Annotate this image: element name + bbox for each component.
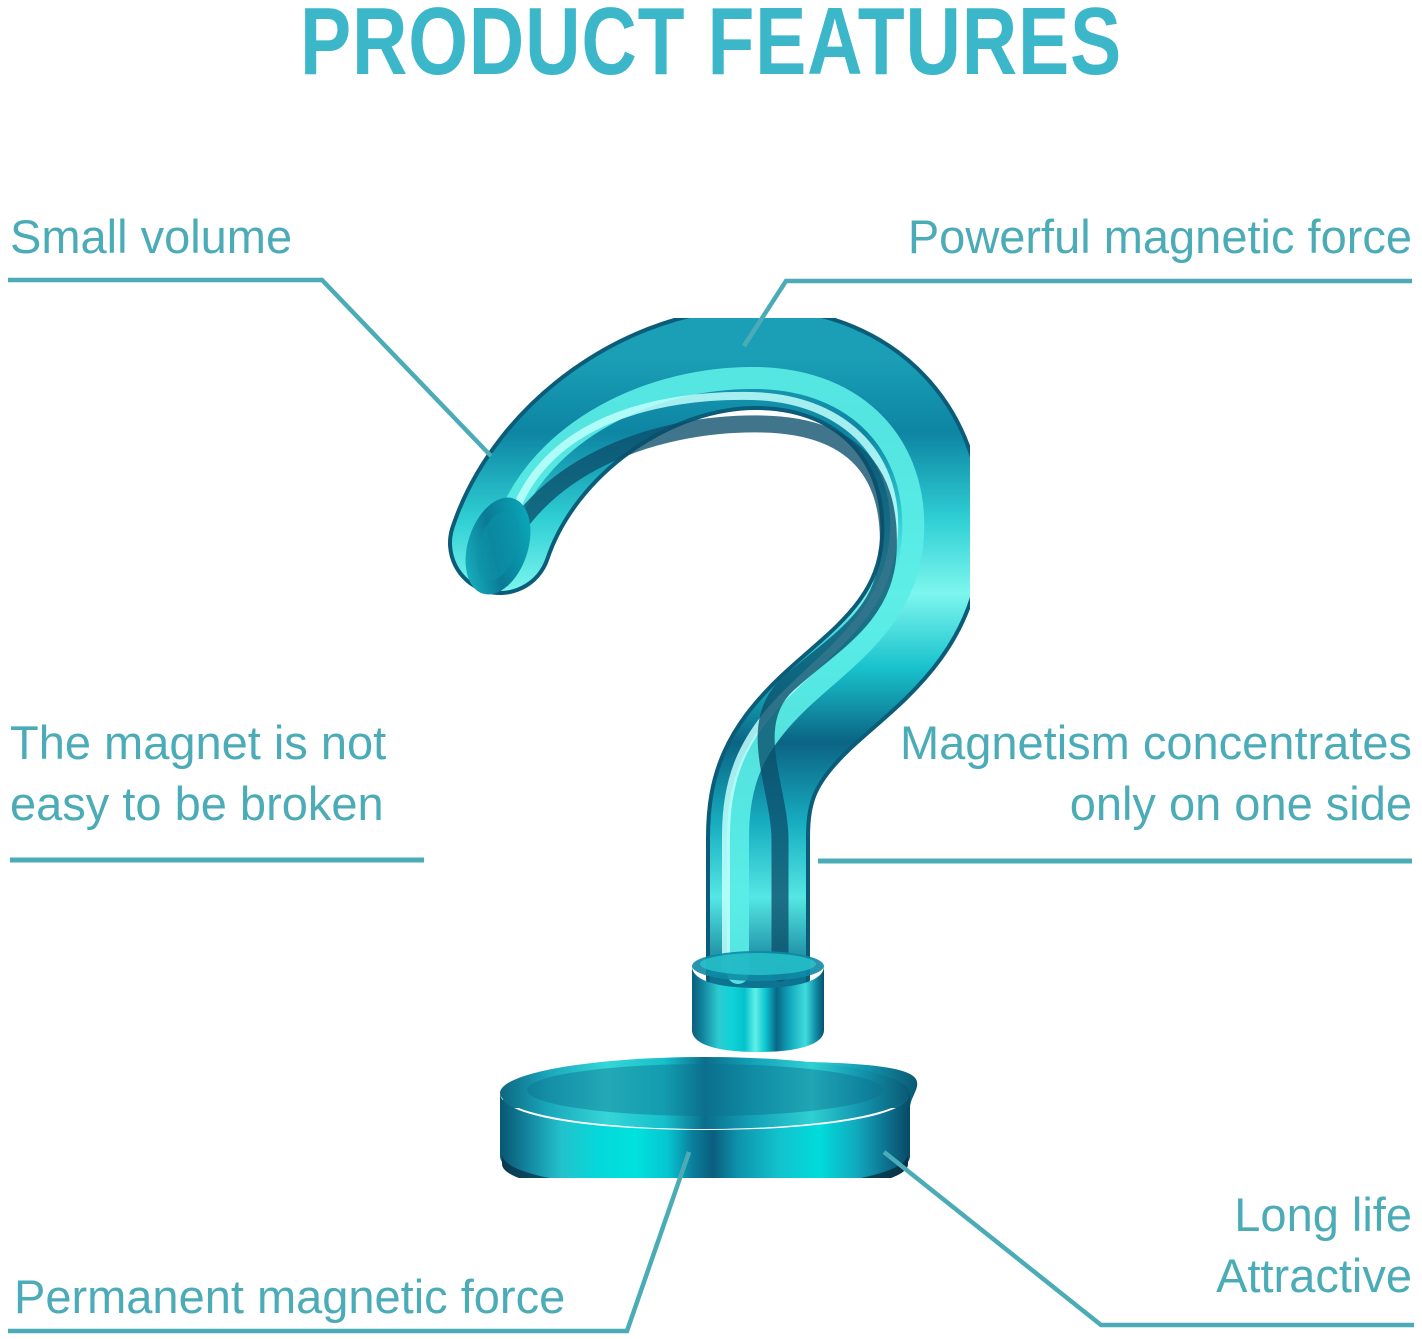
product-features-infographic: PRODUCT FEATURES bbox=[0, 0, 1422, 1339]
callout-magnetism-one-side: Magnetism concentrates only on one side bbox=[802, 712, 1412, 834]
callout-magnet-not-easy-broken: The magnet is not easy to be broken bbox=[10, 712, 440, 834]
callout-permanent-magnetic-force: Permanent magnetic force bbox=[14, 1266, 565, 1327]
callout-small-volume: Small volume bbox=[10, 206, 292, 267]
callout-powerful-magnetic-force: Powerful magnetic force bbox=[772, 206, 1412, 267]
leader-line-small-volume bbox=[8, 280, 491, 456]
hook-neck bbox=[692, 951, 824, 1052]
callout-long-life-attractive: Long life Attractive bbox=[992, 1184, 1412, 1306]
magnet-base bbox=[500, 1057, 917, 1178]
page-title: PRODUCT FEATURES bbox=[142, 0, 1280, 90]
